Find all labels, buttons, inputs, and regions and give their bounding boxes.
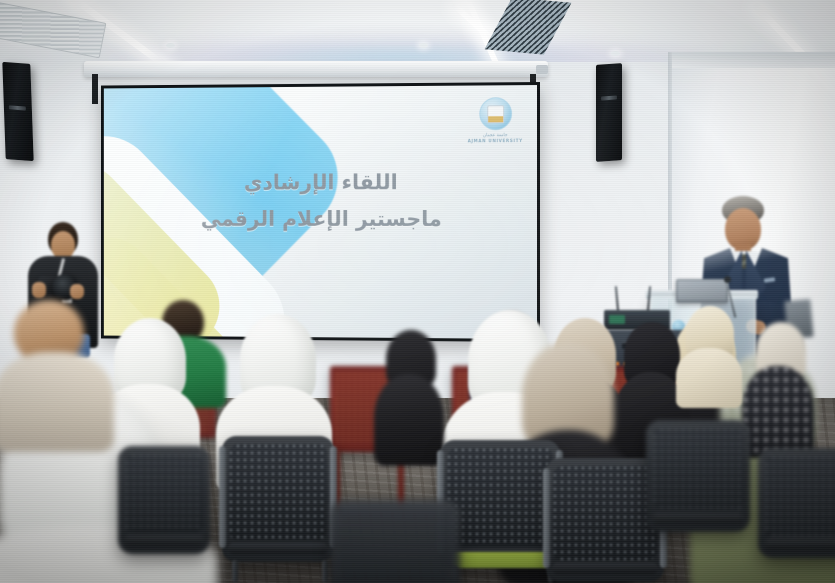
mesh-chair-lumbar-bar xyxy=(124,535,204,546)
mesh-chair xyxy=(222,436,334,562)
wall-speaker-left xyxy=(2,62,33,161)
mesh-chair-back xyxy=(337,508,453,578)
mesh-chair xyxy=(330,500,460,583)
university-logo-mark xyxy=(487,105,504,123)
ceiling-downlight xyxy=(419,43,428,48)
mesh-chair xyxy=(758,448,835,558)
photographer-left-hand xyxy=(32,282,46,298)
presenter-laptop-screen xyxy=(678,281,726,300)
mesh-chair-back xyxy=(765,456,835,536)
slide-title-line-1: اللقاء الإرشادي xyxy=(104,169,537,196)
photographer-face xyxy=(51,231,75,259)
wall-speaker-right xyxy=(596,63,622,162)
mesh-chair-seat xyxy=(452,552,548,568)
ceiling-downlight xyxy=(611,51,620,56)
university-logo: جامعة عجمان AJMAN UNIVERSITY xyxy=(467,97,523,143)
patterned-garment xyxy=(742,366,814,458)
speaker-brand-badge xyxy=(601,95,617,100)
screen-drop-arm xyxy=(92,74,98,104)
audience-member-abaya xyxy=(374,330,444,460)
ceiling-soffit xyxy=(672,52,835,68)
cream-garment xyxy=(676,348,742,408)
mesh-chair-rail xyxy=(543,468,550,568)
projector-screen-end-cap xyxy=(536,65,548,74)
mesh-chair xyxy=(118,446,210,554)
mesh-chair-lumbar-bar xyxy=(764,539,835,550)
mesh-chair-leg xyxy=(322,560,328,583)
mesh-chair-back xyxy=(553,466,657,560)
audience-member-bald xyxy=(0,300,114,450)
audience-member-cream-hijab xyxy=(676,306,742,402)
mesh-chair-back xyxy=(447,448,553,546)
gooseneck-microphone-head xyxy=(724,276,731,283)
audience-shirt xyxy=(0,352,114,452)
slide-title-block: اللقاء الإرشادي ماجستير الإعلام الرقمي xyxy=(104,169,537,234)
seminar-hall-photograph: جامعة عجمان AJMAN UNIVERSITY اللقاء الإر… xyxy=(0,0,835,583)
speaker-brand-badge xyxy=(9,105,26,110)
audience-member-patterned xyxy=(742,322,814,452)
mesh-chair-back xyxy=(653,428,743,510)
mesh-chair-back xyxy=(229,444,327,540)
ceiling-downlight xyxy=(166,43,175,48)
mesh-chair-lumbar-bar xyxy=(228,543,328,554)
abaya-garment xyxy=(374,374,444,466)
university-logo-disc xyxy=(479,97,512,130)
university-logo-english-text: AJMAN UNIVERSITY xyxy=(467,138,523,143)
mesh-chair-lumbar-bar xyxy=(552,563,658,574)
mesh-chair-rail xyxy=(219,446,226,548)
mesh-chair-back xyxy=(125,454,203,532)
slide-title-line-2: ماجستير الإعلام الرقمي xyxy=(104,206,537,233)
mesh-chair xyxy=(646,420,750,532)
photographer-right-hand xyxy=(70,284,84,299)
mesh-chair-leg xyxy=(232,560,238,583)
projector-screen-housing xyxy=(84,61,548,77)
mesh-chair-lumbar-bar xyxy=(652,513,744,524)
